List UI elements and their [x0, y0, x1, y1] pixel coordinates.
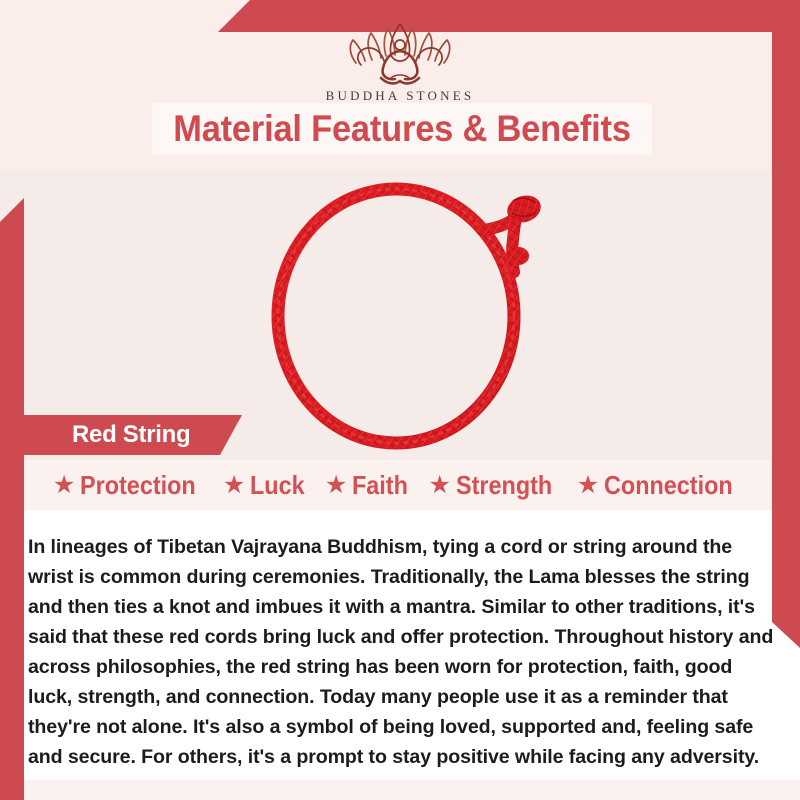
benefit-label: Strength: [456, 470, 552, 501]
benefit-item-luck: ★ Luck: [223, 470, 311, 501]
page-title-band: Material Features & Benefits: [152, 103, 652, 155]
benefits-list: ★ Protection ★ Luck ★ Faith ★ Strength ★…: [24, 462, 776, 508]
background-footer: [0, 780, 800, 800]
material-name-banner: Red String: [24, 415, 242, 455]
brand-name: BUDDHA STONES: [0, 88, 800, 104]
star-icon: ★: [325, 473, 347, 498]
product-image-red-string-bracelet: [270, 168, 570, 458]
benefit-label: Protection: [80, 470, 196, 501]
infographic-poster: BUDDHA STONES Material Features & Benefi…: [0, 0, 800, 800]
benefit-item-connection: ★ Connection: [577, 470, 747, 501]
brand-logo: BUDDHA STONES: [0, 18, 800, 104]
benefit-item-protection: ★ Protection: [53, 470, 209, 501]
benefit-label: Connection: [604, 470, 733, 501]
lotus-meditation-icon: [325, 18, 475, 86]
benefit-label: Luck: [250, 470, 305, 501]
material-name-label: Red String: [72, 421, 190, 449]
decor-left-red-strip: [0, 198, 24, 800]
benefit-label: Faith: [352, 470, 408, 501]
star-icon: ★: [577, 473, 599, 498]
star-icon: ★: [223, 473, 245, 498]
benefit-item-strength: ★ Strength: [428, 470, 562, 501]
benefit-item-faith: ★ Faith: [325, 470, 415, 501]
page-title: Material Features & Benefits: [173, 108, 631, 150]
description-paragraph: In lineages of Tibetan Vajrayana Buddhis…: [28, 532, 774, 772]
star-icon: ★: [53, 473, 75, 498]
star-icon: ★: [428, 473, 450, 498]
